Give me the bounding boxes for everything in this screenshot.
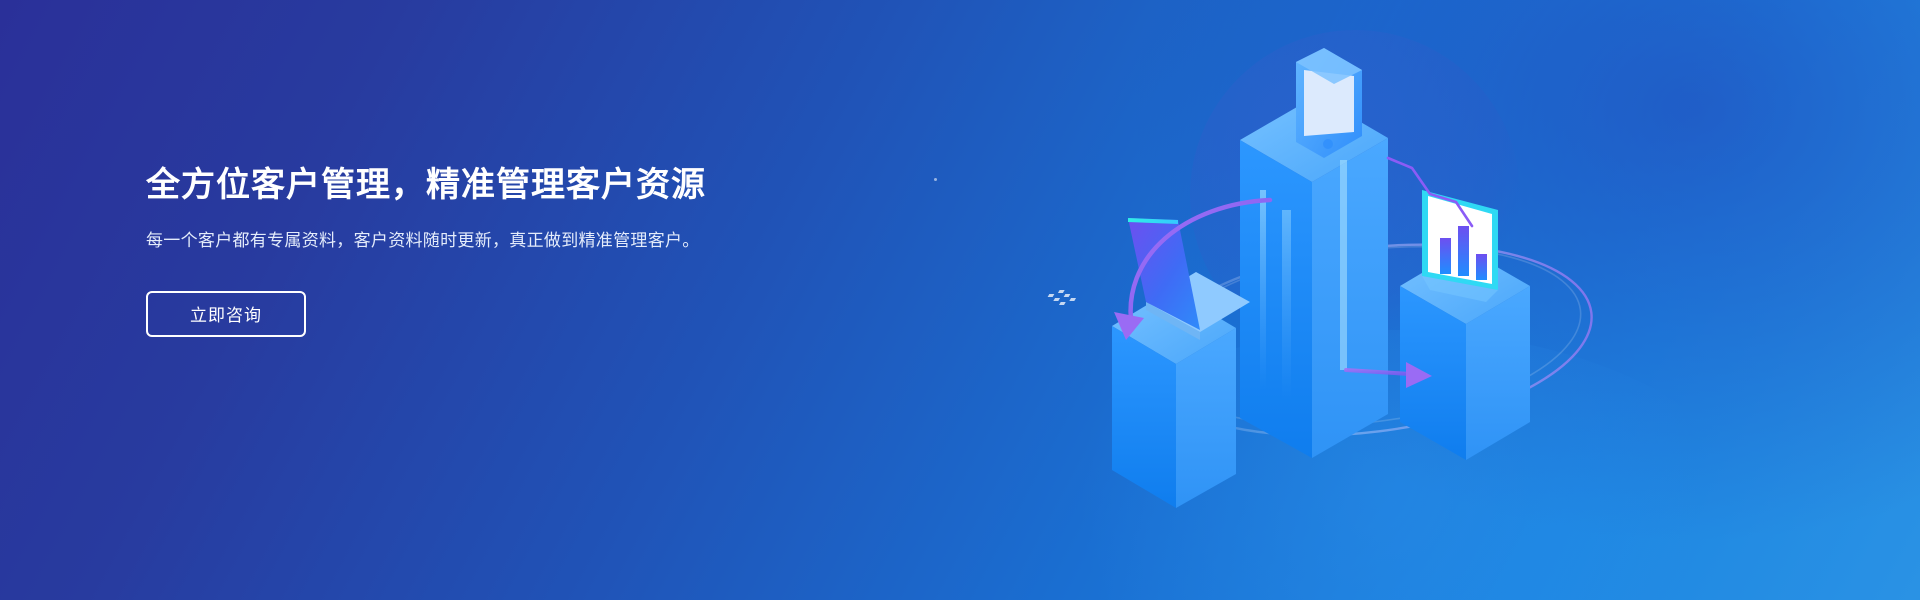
sparkle-dot-icon xyxy=(934,178,937,181)
hero-banner: 全方位客户管理，精准管理客户资源 每一个客户都有专属资料，客户资料随时更新，真正… xyxy=(0,0,1920,600)
hero-subtitle: 每一个客户都有专属资料，客户资料随时更新，真正做到精准管理客户。 xyxy=(146,227,731,255)
consult-now-button[interactable]: 立即咨询 xyxy=(146,291,306,337)
tablet-device xyxy=(1296,48,1362,158)
hero-copy-block: 全方位客户管理，精准管理客户资源 每一个客户都有专属资料，客户资料随时更新，真正… xyxy=(146,164,786,337)
page-title: 全方位客户管理，精准管理客户资源 xyxy=(146,164,786,207)
hero-illustration xyxy=(1100,40,1640,560)
